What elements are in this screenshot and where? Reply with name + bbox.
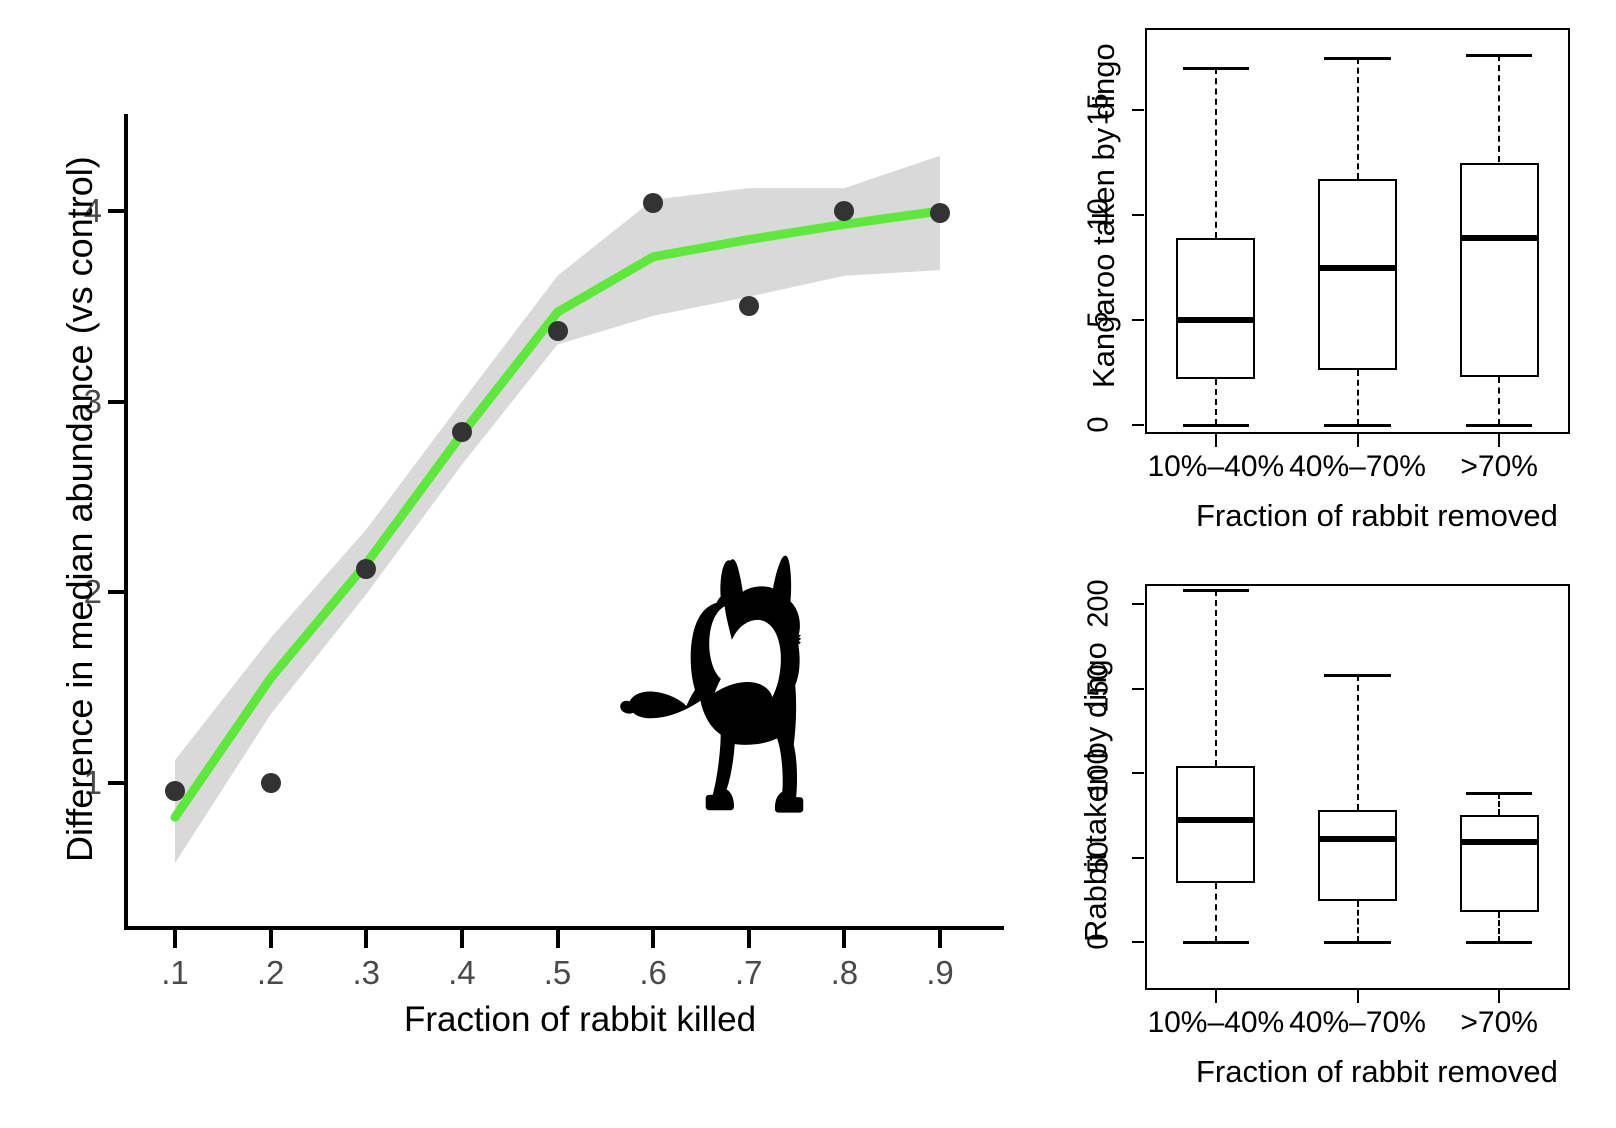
scatter-x-tick (556, 930, 560, 948)
whisker-upper (1215, 590, 1217, 766)
confidence-band (175, 156, 940, 863)
kangaroo-y-axis-title: Kangaroo taken by dingo (1088, 43, 1119, 388)
rabbit-boxplot-y-tick (1132, 603, 1144, 605)
scatter-y-axis-title: Difference in median abundance (vs contr… (62, 156, 97, 862)
scatter-x-tick-label: .8 (824, 956, 864, 989)
scatter-x-tick (651, 930, 655, 948)
scatter-point (261, 773, 281, 793)
rabbit-boxplot-y-tick (1132, 772, 1144, 774)
whisker-upper (1498, 55, 1500, 162)
whisker-cap-upper (1324, 674, 1391, 677)
boxplot-box (1176, 238, 1255, 379)
boxplot-x-tick (1498, 990, 1500, 1003)
scatter-x-tick-label: .1 (155, 956, 195, 989)
boxplot-median (1176, 817, 1255, 823)
whisker-cap-lower (1183, 941, 1250, 944)
figure-root: 1234 .1.2.3.4.5.6.7.8.9 Fraction of rabb… (0, 0, 1616, 1128)
whisker-cap-upper (1183, 589, 1250, 592)
boxplot-x-tick (1498, 434, 1500, 447)
scatter-y-tick (108, 590, 126, 594)
boxplot-median (1318, 265, 1397, 271)
whisker-cap-lower (1183, 424, 1250, 427)
scatter-x-tick-label: .3 (346, 956, 386, 989)
scatter-x-tick-label: .2 (251, 956, 291, 989)
boxplot-x-label: 10%–40% (1145, 452, 1287, 482)
scatter-point (930, 203, 950, 223)
scatter-x-tick-label: .7 (729, 956, 769, 989)
boxplot-x-tick (1357, 434, 1359, 447)
boxplot-x-label: >70% (1428, 452, 1570, 482)
boxplot-x-label: 40%–70% (1287, 452, 1429, 482)
whisker-lower (1357, 370, 1359, 425)
scatter-x-axis-title: Fraction of rabbit killed (404, 1002, 756, 1037)
scatter-x-tick (747, 930, 751, 948)
boxplot-median (1176, 317, 1255, 323)
scatter-point (165, 781, 185, 801)
scatter-point (739, 296, 759, 316)
whisker-cap-lower (1324, 941, 1391, 944)
boxplot-median (1460, 839, 1539, 845)
scatter-point (452, 422, 472, 442)
boxplot-box (1460, 815, 1539, 911)
whisker-lower (1498, 377, 1500, 425)
whisker-lower (1215, 379, 1217, 425)
rabbit-boxplot-y-tick (1132, 857, 1144, 859)
scatter-x-tick-label: .9 (920, 956, 960, 989)
boxplot-box (1318, 179, 1397, 370)
scatter-y-tick (108, 209, 126, 213)
whisker-cap-lower (1324, 424, 1391, 427)
kangaroo-boxplot-y-tick (1132, 319, 1144, 321)
boxplot-x-tick (1357, 990, 1359, 1003)
scatter-x-tick-label: .5 (538, 956, 578, 989)
whisker-upper (1357, 58, 1359, 180)
kangaroo-x-axis-title: Fraction of rabbit removed (1196, 500, 1558, 531)
whisker-cap-upper (1324, 57, 1391, 60)
scatter-x-tick (938, 930, 942, 948)
boxplot-median (1318, 836, 1397, 842)
rabbit-boxplot-y-tick-label: 200 (1085, 574, 1114, 634)
scatter-x-tick (269, 930, 273, 948)
scatter-point (548, 321, 568, 341)
rabbit-x-axis-title: Fraction of rabbit removed (1196, 1056, 1558, 1087)
whisker-cap-lower (1466, 424, 1533, 427)
whisker-upper (1215, 68, 1217, 238)
scatter-x-tick (842, 930, 846, 948)
rabbit-boxplot-panel: 050100150200 10%–40%40%–70%>70% Fraction… (1010, 560, 1616, 1128)
boxplot-x-label: >70% (1428, 1008, 1570, 1038)
kangaroo-boxplot-panel: 051015 10%–40%40%–70%>70% Fraction of ra… (1010, 0, 1616, 560)
whisker-upper (1357, 675, 1359, 810)
scatter-y-tick (108, 781, 126, 785)
whisker-cap-lower (1466, 941, 1533, 944)
kangaroo-boxplot-y-tick-label: 0 (1085, 395, 1114, 455)
scatter-y-axis-line (124, 114, 128, 928)
scatter-panel: 1234 .1.2.3.4.5.6.7.8.9 Fraction of rabb… (0, 0, 1010, 1128)
scatter-x-tick (460, 930, 464, 948)
scatter-x-tick (173, 930, 177, 948)
dingo-silhouette-icon (620, 556, 803, 813)
whisker-cap-upper (1466, 54, 1533, 57)
whisker-lower (1357, 901, 1359, 942)
boxplot-box (1318, 810, 1397, 901)
boxplot-x-label: 10%–40% (1145, 1008, 1287, 1038)
boxplot-box (1176, 766, 1255, 883)
boxplot-median (1460, 235, 1539, 241)
boxplot-x-tick (1215, 434, 1217, 447)
whisker-lower (1498, 912, 1500, 942)
scatter-y-tick (108, 400, 126, 404)
kangaroo-boxplot-y-tick (1132, 109, 1144, 111)
kangaroo-boxplot-y-tick (1132, 214, 1144, 216)
scatter-x-tick-label: .4 (442, 956, 482, 989)
scatter-x-tick-label: .6 (633, 956, 673, 989)
scatter-x-axis-line (124, 926, 1004, 930)
whisker-cap-upper (1183, 67, 1250, 70)
whisker-lower (1215, 883, 1217, 942)
kangaroo-boxplot-y-tick (1132, 424, 1144, 426)
scatter-x-tick (364, 930, 368, 948)
rabbit-boxplot-y-tick (1132, 941, 1144, 943)
rabbit-y-axis-title: Rabbit taken by dingo (1080, 642, 1111, 942)
boxplot-x-tick (1215, 990, 1217, 1003)
boxplot-x-label: 40%–70% (1287, 1008, 1429, 1038)
whisker-upper (1498, 793, 1500, 815)
whisker-cap-upper (1466, 792, 1533, 795)
boxplot-box (1460, 163, 1539, 377)
rabbit-boxplot-y-tick (1132, 688, 1144, 690)
